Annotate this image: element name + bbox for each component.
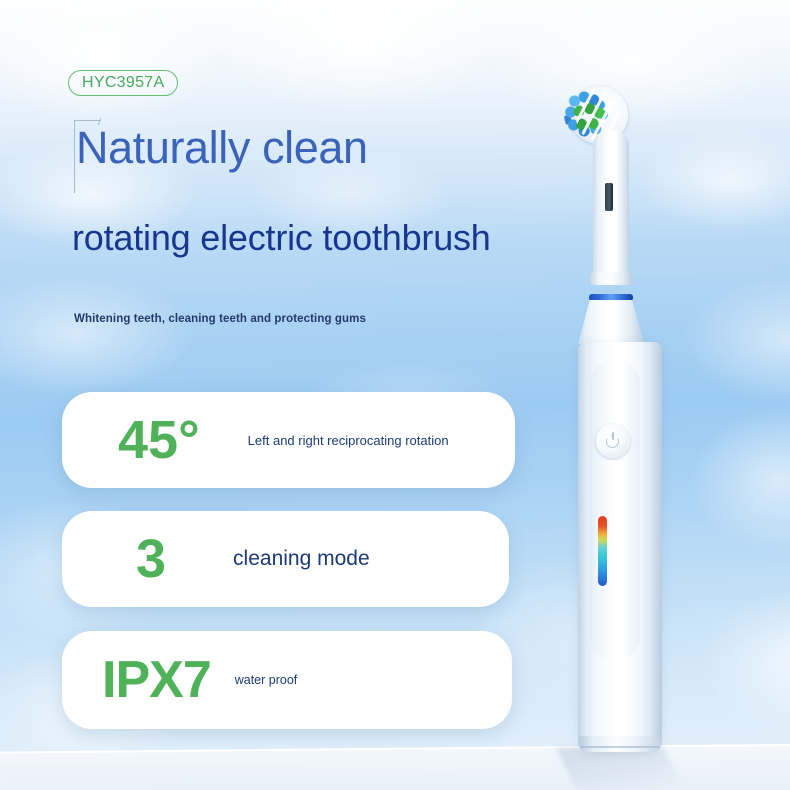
brush-head-collar <box>590 272 632 285</box>
handle-base <box>578 736 662 752</box>
brush-head-slot <box>605 183 613 211</box>
blue-accent-ring <box>589 294 633 301</box>
electric-toothbrush-image <box>0 0 790 790</box>
product-poster: HYC3957A Naturally clean rotating electr… <box>0 0 790 790</box>
power-icon-stem <box>612 432 614 440</box>
handle-grip-panel <box>590 360 640 660</box>
power-icon <box>606 432 620 448</box>
handle-shoulder <box>578 300 644 344</box>
mode-indicator-strip <box>598 516 607 586</box>
handle-base-line <box>580 746 660 748</box>
